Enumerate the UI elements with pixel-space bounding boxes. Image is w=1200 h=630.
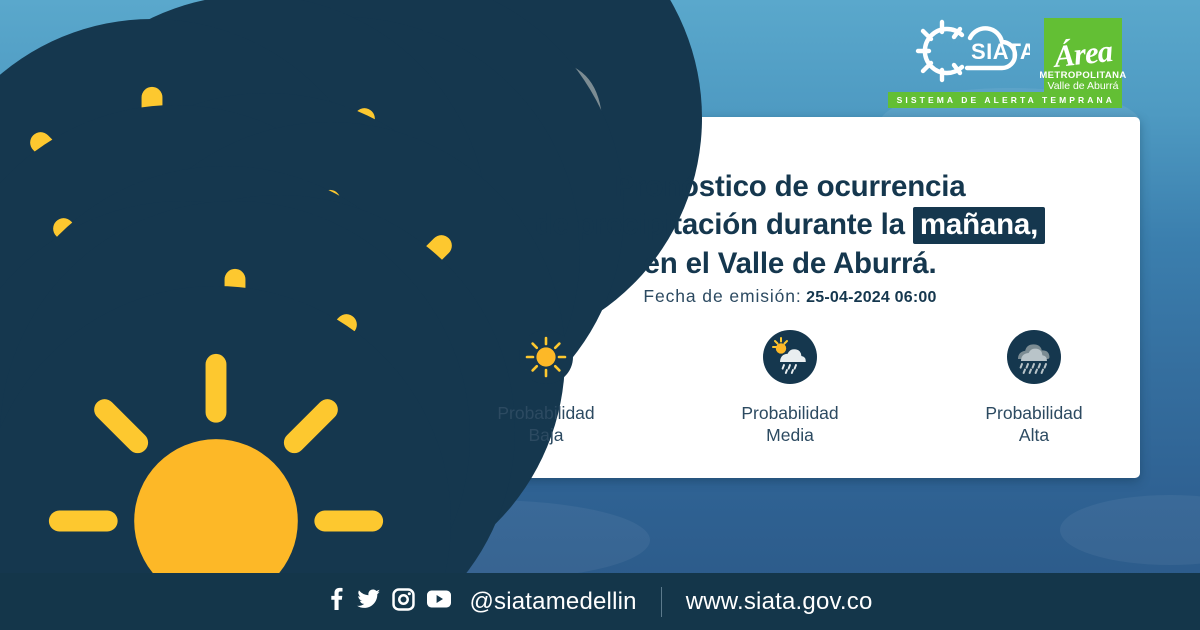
legend-caption-media: Probabilidad Media bbox=[741, 402, 838, 447]
legend-alta-line2: Alta bbox=[1019, 425, 1049, 445]
legend-media-line2: Media bbox=[766, 425, 814, 445]
website-url[interactable]: www.siata.gov.co bbox=[686, 588, 873, 616]
issue-date: Fecha de emisión: 25-04-2024 06:00 bbox=[470, 286, 1110, 307]
valle-de-aburra-map: N bbox=[55, 30, 525, 575]
legend-caption-baja: Probabilidad Baja bbox=[497, 402, 594, 447]
siata-logo-icon: SIATA bbox=[910, 18, 1030, 86]
headline-line-3: en el Valle de Aburrá. bbox=[470, 245, 1110, 283]
footer-bar: @siatamedellin www.siata.gov.co bbox=[0, 573, 1200, 630]
facebook-icon[interactable] bbox=[327, 587, 346, 616]
legend-media-line1: Probabilidad bbox=[741, 403, 838, 423]
issue-date-value: 25-04-2024 06:00 bbox=[806, 289, 936, 306]
background-cloud-icon bbox=[1060, 495, 1200, 565]
social-icons bbox=[327, 587, 452, 616]
issue-date-label: Fecha de emisión: bbox=[643, 286, 801, 306]
headline-line-1: Pronóstico de ocurrencia bbox=[470, 168, 1110, 206]
legend-item-baja: Probabilidad Baja bbox=[476, 330, 616, 447]
legend-item-alta: Probabilidad Alta bbox=[964, 330, 1104, 447]
sun-cloud-rain-icon bbox=[763, 330, 817, 389]
footer-divider bbox=[661, 587, 662, 617]
headline-line-2: de precipitación durante la mañana, bbox=[470, 206, 1110, 244]
area-metropolitana-logo: Área METROPOLITANA Valle de Aburrá bbox=[1044, 18, 1122, 98]
instagram-icon[interactable] bbox=[392, 588, 415, 616]
siata-tagline: SISTEMA DE ALERTA TEMPRANA bbox=[888, 92, 1122, 108]
headline-line-2-text: de precipitación durante la bbox=[535, 208, 913, 241]
probability-legend: Probabilidad Baja bbox=[470, 330, 1110, 447]
twitter-icon[interactable] bbox=[357, 587, 381, 616]
legend-item-media: Probabilidad Media bbox=[720, 330, 860, 447]
legend-baja-line1: Probabilidad bbox=[497, 403, 594, 423]
svg-text:SIATA: SIATA bbox=[971, 39, 1030, 64]
legend-alta-line1: Probabilidad bbox=[985, 403, 1082, 423]
social-handle[interactable]: @siatamedellin bbox=[469, 588, 636, 616]
rain-cloud-icon bbox=[1007, 330, 1061, 389]
poster-root: SIATA Área METROPOLITANA Valle de Aburrá… bbox=[0, 0, 1200, 630]
legend-caption-alta: Probabilidad Alta bbox=[985, 402, 1082, 447]
brand-logos: SIATA Área METROPOLITANA Valle de Aburrá bbox=[910, 18, 1122, 98]
sun-icon bbox=[519, 330, 573, 389]
youtube-icon[interactable] bbox=[426, 589, 452, 614]
headline-highlight: mañana, bbox=[913, 207, 1045, 244]
area-logo-word: Área bbox=[1053, 36, 1114, 73]
legend-baja-line2: Baja bbox=[528, 425, 563, 445]
page-title: Pronóstico de ocurrencia de precipitació… bbox=[470, 168, 1110, 283]
